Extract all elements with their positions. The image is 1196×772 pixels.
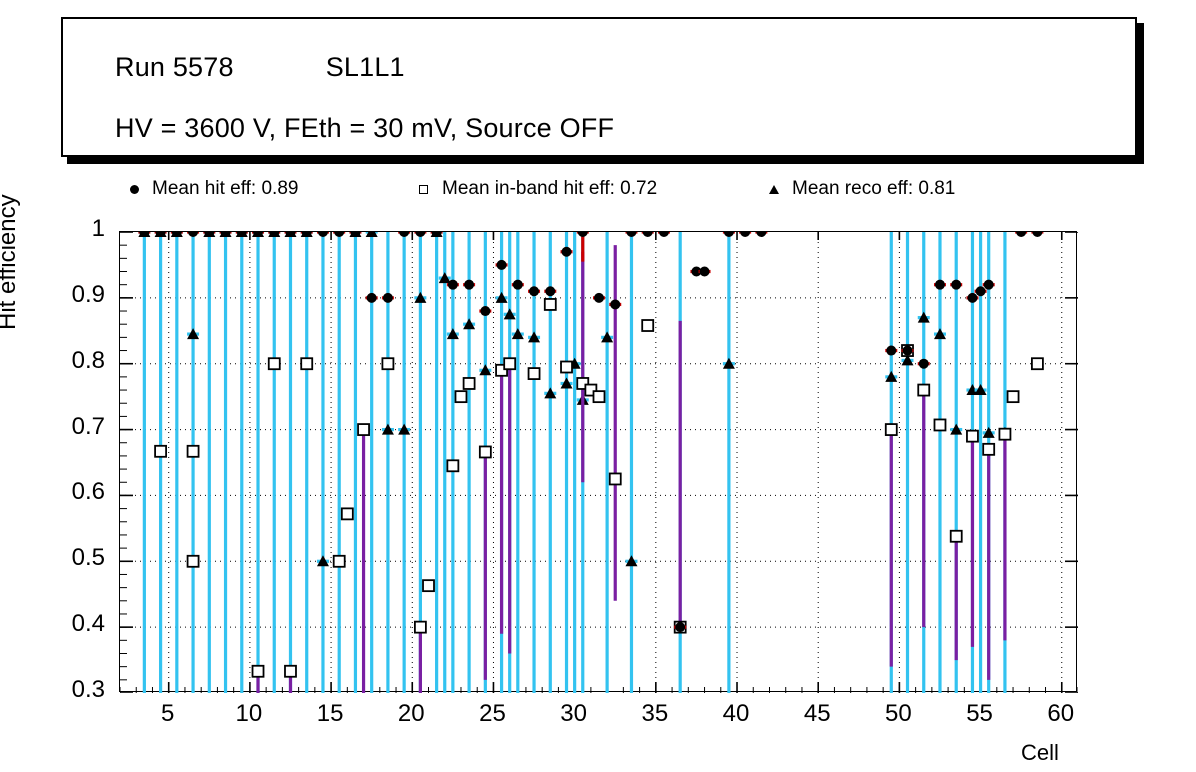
- x-tick-label: 10: [219, 700, 279, 728]
- marker-filled-circle: [1016, 232, 1026, 237]
- x-tick-label: 50: [868, 700, 928, 728]
- plot-data-layer: [120, 232, 1078, 693]
- marker-open-square: [188, 556, 199, 567]
- x-tick-label: 40: [706, 700, 766, 728]
- marker-open-square: [642, 320, 653, 331]
- marker-open-square: [455, 391, 466, 402]
- marker-open-square: [918, 385, 929, 396]
- marker-open-square: [529, 368, 540, 379]
- x-axis-title: Cell: [1021, 740, 1059, 766]
- marker-filled-circle: [513, 280, 523, 290]
- series-open-square: [155, 245, 1044, 693]
- marker-open-square: [269, 358, 280, 369]
- filled-circle-icon: [126, 181, 142, 197]
- y-tick-label: 1: [35, 215, 105, 243]
- legend-label-reco-eff: Mean reco eff: 0.81: [792, 178, 955, 200]
- x-tick-label: 55: [950, 700, 1010, 728]
- x-tick-label: 5: [138, 700, 198, 728]
- marker-open-square: [999, 429, 1010, 440]
- y-tick-label: 0.5: [35, 544, 105, 572]
- marker-filled-circle: [318, 232, 328, 237]
- y-tick-label: 0.4: [35, 610, 105, 638]
- marker-filled-circle: [659, 232, 669, 237]
- marker-open-square: [447, 460, 458, 471]
- marker-filled-circle: [594, 293, 604, 303]
- marker-filled-circle: [480, 306, 490, 316]
- marker-open-square: [983, 444, 994, 455]
- marker-open-square: [285, 666, 296, 677]
- marker-open-square: [886, 424, 897, 435]
- marker-open-square: [423, 580, 434, 591]
- marker-filled-circle: [626, 232, 636, 237]
- marker-open-square: [594, 391, 605, 402]
- marker-open-square: [415, 622, 426, 633]
- marker-open-square: [334, 556, 345, 567]
- marker-open-square: [561, 362, 572, 373]
- marker-filled-circle: [903, 346, 913, 356]
- legend-label-inband-hit-eff: Mean in-band hit eff: 0.72: [442, 178, 657, 200]
- marker-filled-circle: [886, 346, 896, 356]
- marker-open-square: [480, 446, 491, 457]
- x-tick-label: 45: [787, 700, 847, 728]
- marker-open-square: [934, 419, 945, 430]
- superlayer-label: SL1L1: [326, 52, 405, 83]
- marker-open-square: [967, 431, 978, 442]
- marker-filled-circle: [1032, 232, 1042, 237]
- marker-filled-circle: [367, 293, 377, 303]
- marker-filled-circle: [562, 247, 572, 257]
- run-label: Run 5578: [115, 52, 234, 83]
- y-tick-label: 0.9: [35, 281, 105, 309]
- marker-open-square: [358, 424, 369, 435]
- marker-open-square: [504, 358, 515, 369]
- legend-entry-reco-eff: Mean reco eff: 0.81: [766, 175, 955, 203]
- title-line-1: Run 5578SL1L1: [115, 52, 405, 83]
- x-tick-label: 30: [544, 700, 604, 728]
- y-tick-label: 0.7: [35, 413, 105, 441]
- marker-filled-circle: [448, 280, 458, 290]
- marker-open-square: [1032, 358, 1043, 369]
- marker-filled-circle: [643, 232, 653, 237]
- marker-filled-circle: [740, 232, 750, 237]
- legend-entry-inband-hit-eff: Mean in-band hit eff: 0.72: [416, 175, 657, 203]
- x-tick-label: 25: [462, 700, 522, 728]
- marker-filled-circle: [334, 232, 344, 237]
- marker-filled-circle: [497, 260, 507, 270]
- marker-filled-circle: [578, 232, 588, 237]
- marker-filled-circle: [756, 232, 766, 237]
- marker-open-square: [188, 446, 199, 457]
- legend-label-hit-eff: Mean hit eff: 0.89: [152, 178, 298, 200]
- marker-filled-circle: [984, 280, 994, 290]
- marker-filled-circle: [967, 293, 977, 303]
- marker-filled-circle: [951, 280, 961, 290]
- marker-filled-circle: [976, 286, 986, 296]
- marker-filled-circle: [919, 359, 929, 369]
- legend-entry-hit-eff: Mean hit eff: 0.89: [126, 175, 298, 203]
- marker-filled-circle: [675, 622, 685, 632]
- marker-open-square: [545, 299, 556, 310]
- marker-filled-circle: [700, 267, 710, 277]
- x-tick-label: 60: [1031, 700, 1091, 728]
- filled-triangle-icon: [766, 181, 782, 197]
- marker-filled-circle: [415, 232, 425, 237]
- marker-open-square: [951, 531, 962, 542]
- marker-open-square: [1008, 391, 1019, 402]
- x-tick-label: 35: [625, 700, 685, 728]
- marker-filled-circle: [529, 286, 539, 296]
- x-tick-label: 15: [300, 700, 360, 728]
- marker-filled-circle: [545, 286, 555, 296]
- marker-open-square: [155, 446, 166, 457]
- legend: Mean hit eff: 0.89 Mean in-band hit eff:…: [126, 175, 1076, 203]
- marker-filled-circle: [935, 280, 945, 290]
- y-tick-label: 0.6: [35, 478, 105, 506]
- marker-filled-circle: [464, 280, 474, 290]
- plot-frame: [119, 231, 1077, 692]
- series-filled-triangle: [138, 232, 1011, 693]
- open-square-icon: [416, 181, 432, 197]
- plot-canvas: Run 5578SL1L1 HV = 3600 V, FEth = 30 mV,…: [0, 0, 1196, 772]
- marker-open-square: [253, 666, 264, 677]
- marker-open-square: [382, 358, 393, 369]
- marker-open-square: [301, 358, 312, 369]
- marker-open-square: [610, 473, 621, 484]
- y-tick-label: 0.8: [35, 347, 105, 375]
- title-line-2: HV = 3600 V, FEth = 30 mV, Source OFF: [115, 113, 614, 144]
- marker-filled-circle: [399, 232, 409, 237]
- marker-filled-circle: [610, 299, 620, 309]
- y-tick-label: 0.3: [35, 676, 105, 704]
- marker-filled-circle: [188, 232, 198, 237]
- marker-filled-circle: [383, 293, 393, 303]
- marker-open-square: [342, 508, 353, 519]
- title-box: Run 5578SL1L1 HV = 3600 V, FEth = 30 mV,…: [61, 17, 1137, 157]
- marker-filled-circle: [724, 232, 734, 237]
- marker-open-square: [464, 378, 475, 389]
- x-tick-label: 20: [381, 700, 441, 728]
- y-axis-title: Hit efficiency: [0, 194, 22, 330]
